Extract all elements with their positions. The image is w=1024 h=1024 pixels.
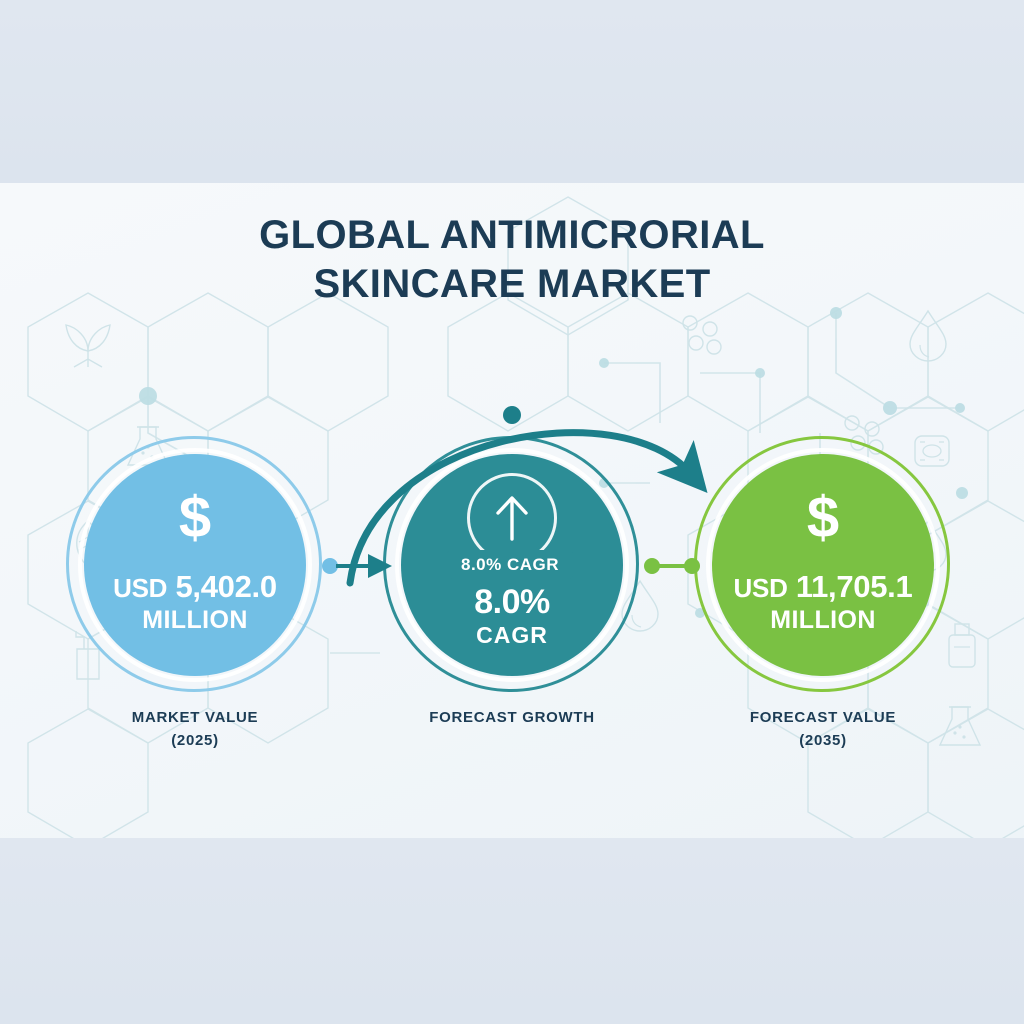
market-value-amount: USD 5,402.0 [113, 571, 277, 604]
letterbox-band-bottom [0, 838, 1024, 1024]
caption-text: MARKET VALUE [132, 709, 258, 726]
cagr-badge: 8.0% CAGR [447, 550, 573, 579]
caption-year: (2025) [45, 730, 345, 753]
stat-node-market-value-2025[interactable]: $ USD 5,402.0 MILLION [65, 435, 325, 695]
cagr-percent-label: CAGR [476, 622, 548, 649]
caption-market-value: MARKET VALUE (2025) [45, 707, 345, 752]
currency-unit-label: USD [734, 573, 788, 603]
page-title: GLOBAL ANTIMICRORIAL SKINCARE MARKET [0, 211, 1024, 309]
infographic-canvas: GLOBAL ANTIMICRORIAL SKINCARE MARKET 8.0… [0, 183, 1024, 838]
bubble-content: $ USD 11,705.1 MILLION [693, 435, 953, 695]
forecast-value-number: 11,705.1 [796, 569, 913, 604]
forecast-value-scale: MILLION [770, 606, 876, 635]
market-value-scale: MILLION [142, 606, 248, 635]
infographic-page: GLOBAL ANTIMICRORIAL SKINCARE MARKET 8.0… [0, 0, 1024, 1024]
caption-year: (2035) [673, 730, 973, 753]
title-line-1: GLOBAL ANTIMICRORIAL [0, 211, 1024, 260]
market-value-number: 5,402.0 [175, 569, 276, 604]
stat-node-forecast-value-2035[interactable]: $ USD 11,705.1 MILLION [693, 435, 953, 695]
caption-forecast-value: FORECAST VALUE (2035) [673, 707, 973, 752]
currency-unit-label: USD [113, 573, 167, 603]
caption-forecast-growth: FORECAST GROWTH [362, 707, 662, 730]
cagr-percent-value: 8.0% [474, 585, 550, 621]
dollar-icon: $ [807, 489, 839, 547]
bubble-content: $ USD 5,402.0 MILLION [65, 435, 325, 695]
caption-text: FORECAST VALUE [750, 709, 896, 726]
forecast-value-amount: USD 11,705.1 [734, 571, 913, 604]
dollar-icon: $ [179, 489, 211, 547]
letterbox-band-top [0, 0, 1024, 183]
title-line-2: SKINCARE MARKET [0, 260, 1024, 309]
connector-dot-green-left [644, 558, 660, 574]
caption-text: FORECAST GROWTH [429, 709, 595, 726]
